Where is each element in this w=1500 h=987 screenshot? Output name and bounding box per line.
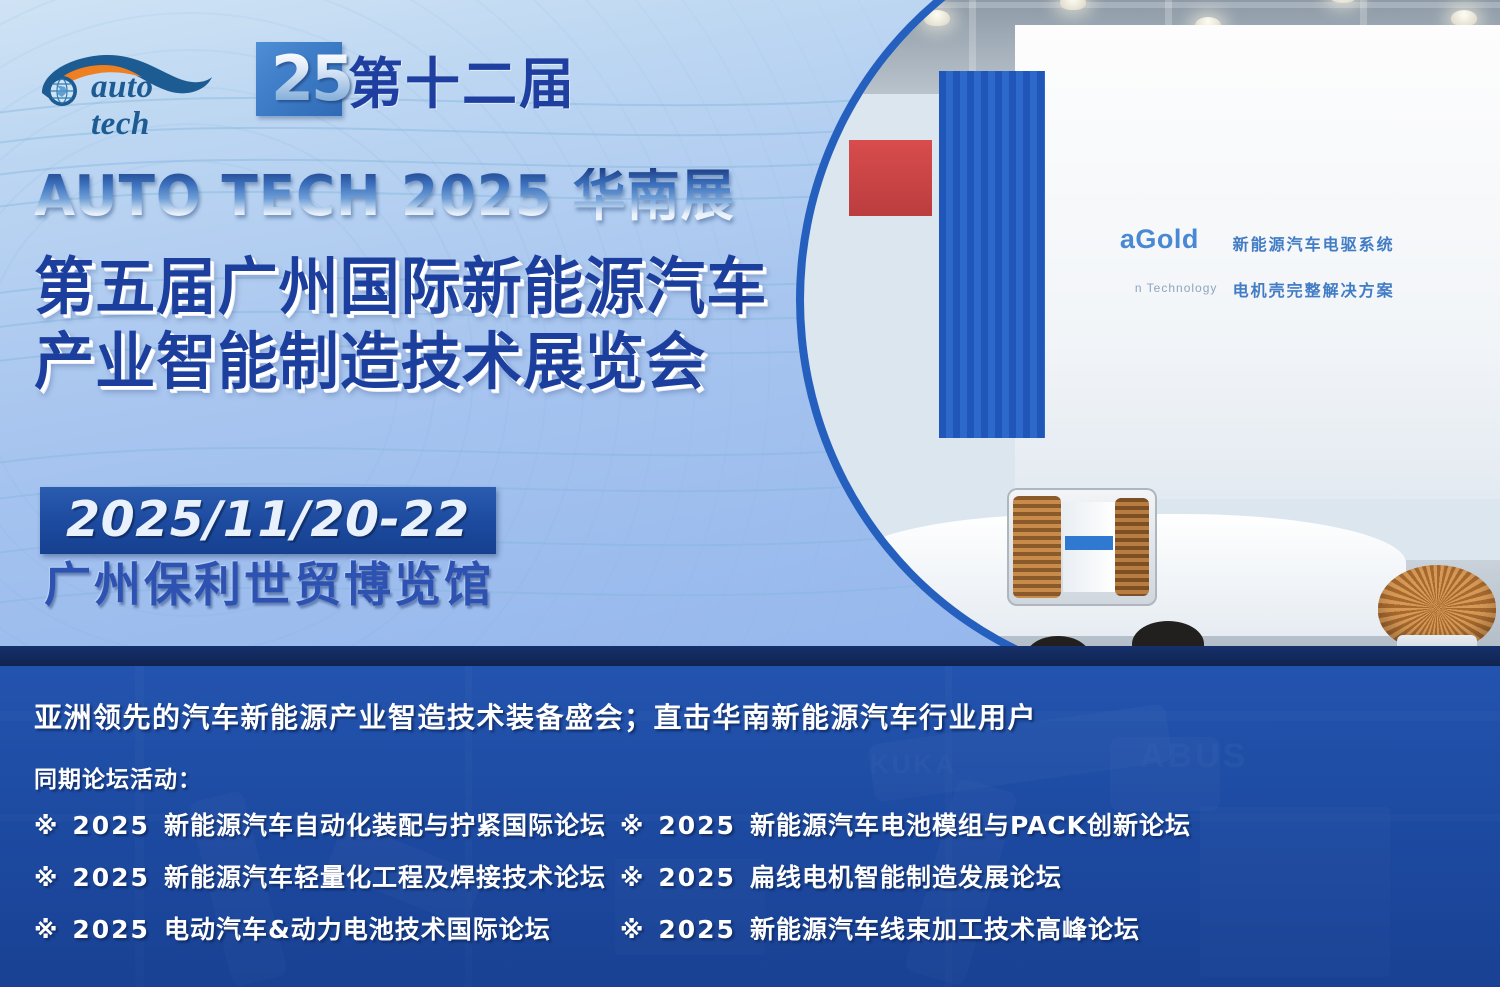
forum-name: 新能源汽车线束加工技术高峰论坛 (750, 910, 1140, 946)
exhibition-photo: aGold n Technology 新能源汽车电驱系统 电机壳完整解决方案 (760, 0, 1500, 700)
motor-stator-product (1007, 488, 1157, 606)
forum-column-right: ※2025新能源汽车电池模组与PACK创新论坛※2025扁线电机智能制造发展论坛… (620, 806, 1190, 962)
forum-bullet-icon: ※ (34, 864, 58, 892)
hairpin-coil-product (1378, 565, 1496, 651)
booth-red-sign (849, 140, 932, 216)
main-title-line-1: 第五届广州国际新能源汽车 (34, 252, 767, 323)
forum-year: 2025 (72, 863, 150, 892)
forum-item[interactable]: ※2025扁线电机智能制造发展论坛 (620, 858, 1190, 894)
forum-bullet-icon: ※ (34, 812, 58, 840)
forum-item[interactable]: ※2025新能源汽车电池模组与PACK创新论坛 (620, 806, 1190, 842)
edition-number-badge: 25 (256, 42, 342, 116)
brand-logo-row: auto tech 25 第十二届 (36, 40, 576, 118)
booth-cn-line-1: 新能源汽车电驱系统 (1233, 231, 1395, 255)
forum-list: ※2025新能源汽车自动化装配与拧紧国际论坛※2025新能源汽车轻量化工程及焊接… (34, 806, 1214, 962)
kicker-headline: AUTO TECH 2025 华南展 (34, 168, 735, 227)
forum-item[interactable]: ※2025电动汽车&动力电池技术国际论坛 (34, 910, 604, 946)
forum-bullet-icon: ※ (620, 864, 644, 892)
booth-wall (1015, 25, 1500, 499)
forum-item[interactable]: ※2025新能源汽车线束加工技术高峰论坛 (620, 910, 1190, 946)
forum-year: 2025 (658, 811, 736, 840)
auto-tech-logo: auto tech (36, 41, 216, 117)
forum-name: 扁线电机智能制造发展论坛 (750, 858, 1062, 894)
booth-blue-panel (939, 71, 1044, 438)
forum-item[interactable]: ※2025新能源汽车自动化装配与拧紧国际论坛 (34, 806, 604, 842)
edition-label: 第十二届 (348, 39, 576, 119)
forum-name: 新能源汽车电池模组与PACK创新论坛 (750, 806, 1191, 842)
event-date: 2025/11/20-22 (66, 491, 470, 548)
forum-name: 新能源汽车轻量化工程及焊接技术论坛 (164, 858, 606, 894)
forum-bullet-icon: ※ (620, 916, 644, 944)
forum-column-left: ※2025新能源汽车自动化装配与拧紧国际论坛※2025新能源汽车轻量化工程及焊接… (34, 806, 604, 962)
forum-year: 2025 (658, 863, 736, 892)
main-title-line-2: 产业智能制造技术展览会 (34, 327, 767, 398)
forum-section-label: 同期论坛活动： (34, 760, 202, 794)
navy-divider-strip (0, 646, 1500, 666)
event-venue: 广州保利世贸博览馆 (44, 562, 494, 609)
forum-year: 2025 (72, 915, 150, 944)
forum-name: 新能源汽车自动化装配与拧紧国际论坛 (164, 806, 606, 842)
photo-clip: aGold n Technology 新能源汽车电驱系统 电机壳完整解决方案 (804, 0, 1500, 682)
booth-brand-subtext: n Technology (1135, 281, 1218, 295)
forum-bullet-icon: ※ (620, 812, 644, 840)
forum-item[interactable]: ※2025新能源汽车轻量化工程及焊接技术论坛 (34, 858, 604, 894)
poster-root: auto tech 25 第十二届 AUTO TECH 2025 华南展 第五届… (0, 0, 1500, 987)
forum-name: 电动汽车&动力电池技术国际论坛 (164, 910, 551, 946)
photo-scene: aGold n Technology 新能源汽车电驱系统 电机壳完整解决方案 (804, 0, 1500, 682)
forum-year: 2025 (658, 915, 736, 944)
event-tagline: 亚洲领先的汽车新能源产业智造技术装备盛会；直击华南新能源汽车行业用户 (34, 696, 1037, 736)
event-date-badge: 2025/11/20-22 (40, 487, 496, 554)
logo-wordmark: auto tech (91, 69, 216, 143)
main-title: 第五届广州国际新能源汽车 产业智能制造技术展览会 (34, 252, 767, 397)
booth-brand-text: aGold (1120, 224, 1199, 255)
forum-year: 2025 (72, 811, 150, 840)
forum-bullet-icon: ※ (34, 916, 58, 944)
booth-cn-line-2: 电机壳完整解决方案 (1233, 277, 1395, 301)
edition-number: 25 (271, 48, 351, 110)
